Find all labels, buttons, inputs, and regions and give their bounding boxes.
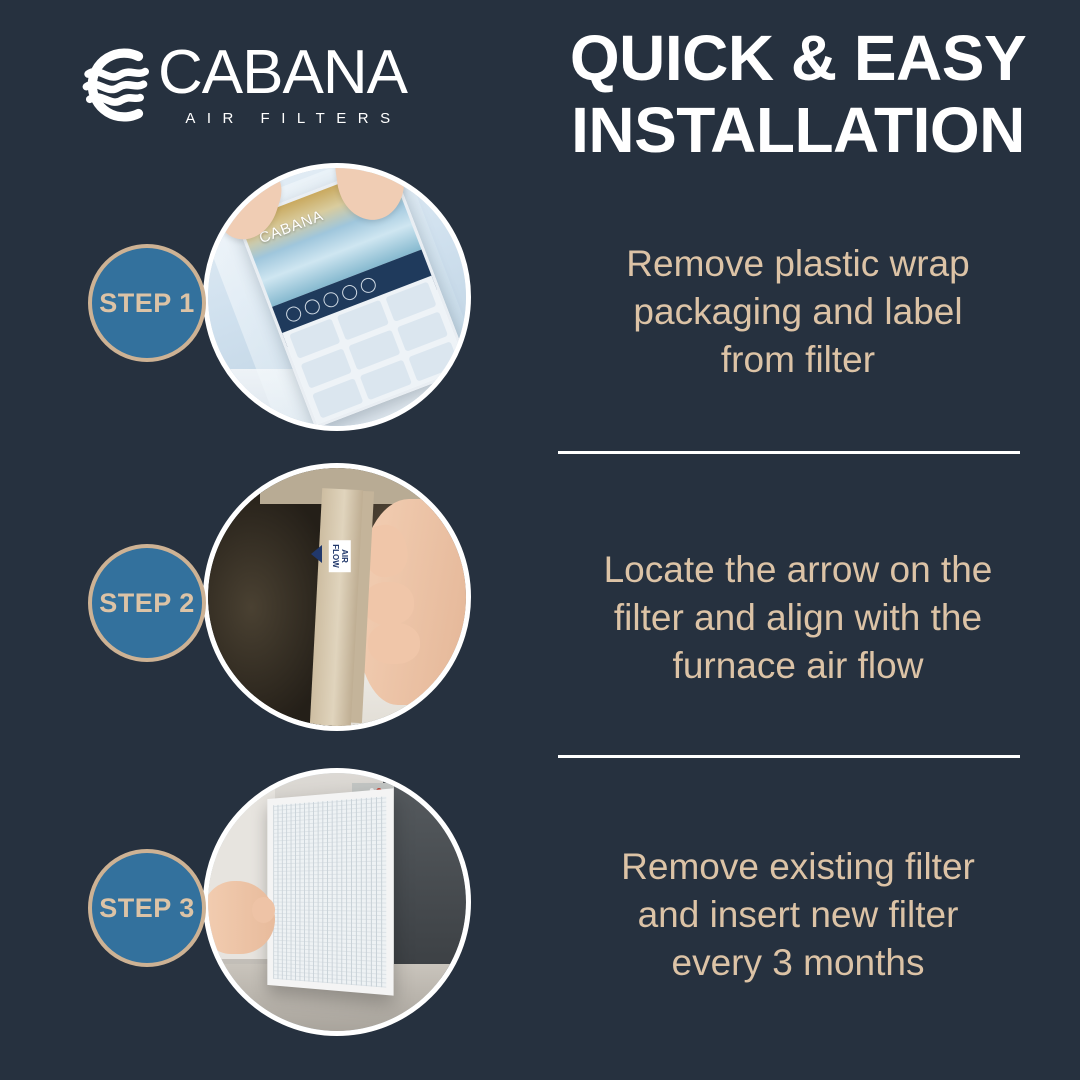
air-flow-arrow-icon [311, 545, 322, 563]
step-badge-label: STEP 2 [99, 588, 195, 619]
step-badge-1: STEP 1 [88, 244, 206, 362]
wave-circle-icon [78, 43, 162, 127]
step-badge-label: STEP 3 [99, 893, 195, 924]
step-3-line-3: every 3 months [548, 939, 1048, 987]
step-description-2: Locate the arrow on the filter and align… [548, 546, 1048, 690]
furnace-insert-photo [203, 768, 471, 1036]
air-flow-sticker-line-2: FLOW [331, 545, 340, 569]
step-2-line-3: furnace air flow [548, 642, 1048, 690]
step-3-line-2: and insert new filter [548, 891, 1048, 939]
step-2-line-2: filter and align with the [548, 594, 1048, 642]
step-3-line-1: Remove existing filter [548, 843, 1048, 891]
brand-wordmark: CABANA AIR FILTERS [158, 43, 407, 127]
infographic-canvas: CABANA AIR FILTERS QUICK & EASY INSTALLA… [0, 0, 1080, 1080]
air-flow-arrow-photo: AIR FLOW [203, 463, 471, 731]
step-row-3: STEP 3 Remove existing filter and insert… [0, 755, 1080, 1055]
brand-tagline: AIR FILTERS [158, 110, 407, 127]
step-description-3: Remove existing filter and insert new fi… [548, 843, 1048, 987]
step-badge-label: STEP 1 [99, 288, 195, 319]
new-filter [267, 788, 393, 995]
step-badge-3: STEP 3 [88, 849, 206, 967]
step-1-line-2: packaging and label [548, 288, 1048, 336]
air-flow-sticker-line-1: AIR [340, 545, 349, 569]
brand-logo: CABANA AIR FILTERS [78, 30, 478, 140]
brand-name: CABANA [158, 43, 407, 103]
step-description-1: Remove plastic wrap packaging and label … [548, 240, 1048, 384]
headline-line-1: QUICK & EASY [548, 22, 1048, 94]
page-title: QUICK & EASY INSTALLATION [548, 22, 1048, 166]
step-row-2: AIR FLOW STEP 2 Locate the arrow on the … [0, 450, 1080, 750]
step-1-line-3: from filter [548, 336, 1048, 384]
filter-unwrapping-photo: CABANA MERV 8 [203, 163, 471, 431]
step-1-line-1: Remove plastic wrap [548, 240, 1048, 288]
step-badge-2: STEP 2 [88, 544, 206, 662]
step-2-line-1: Locate the arrow on the [548, 546, 1048, 594]
air-flow-sticker: AIR FLOW [329, 541, 351, 573]
step-row-1: CABANA MERV 8 STEP 1 Remove plastic wrap… [0, 150, 1080, 450]
